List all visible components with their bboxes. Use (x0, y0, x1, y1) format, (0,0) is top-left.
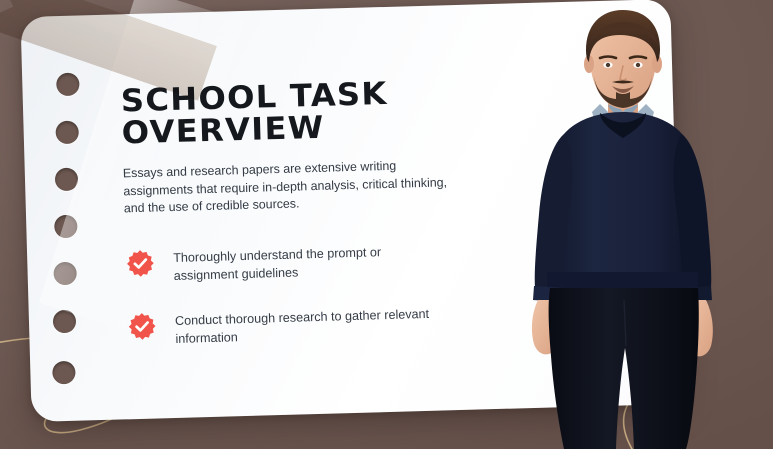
verified-check-badge-icon (127, 311, 158, 342)
punch-hole (56, 73, 80, 97)
list-item-label: Thoroughly understand the prompt or assi… (173, 240, 434, 286)
list-item: Thoroughly understand the prompt or assi… (125, 236, 556, 287)
list-item: Conduct thorough research to gather rele… (127, 299, 558, 350)
punch-hole (52, 361, 76, 385)
punch-hole (55, 121, 79, 145)
intro-paragraph: Essays and research papers are extensive… (123, 156, 454, 218)
bullet-list: Thoroughly understand the prompt or assi… (125, 236, 558, 349)
punch-hole (53, 310, 77, 334)
list-item-label: Conduct thorough research to gather rele… (175, 302, 436, 348)
punch-hole (55, 168, 79, 192)
punch-hole (53, 262, 77, 286)
slide-canvas: SCHOOL TASK OVERVIEW Essays and research… (0, 0, 773, 449)
punch-hole (54, 215, 78, 239)
verified-check-badge-icon (125, 249, 156, 280)
card-content: SCHOOL TASK OVERVIEW Essays and research… (120, 74, 558, 373)
